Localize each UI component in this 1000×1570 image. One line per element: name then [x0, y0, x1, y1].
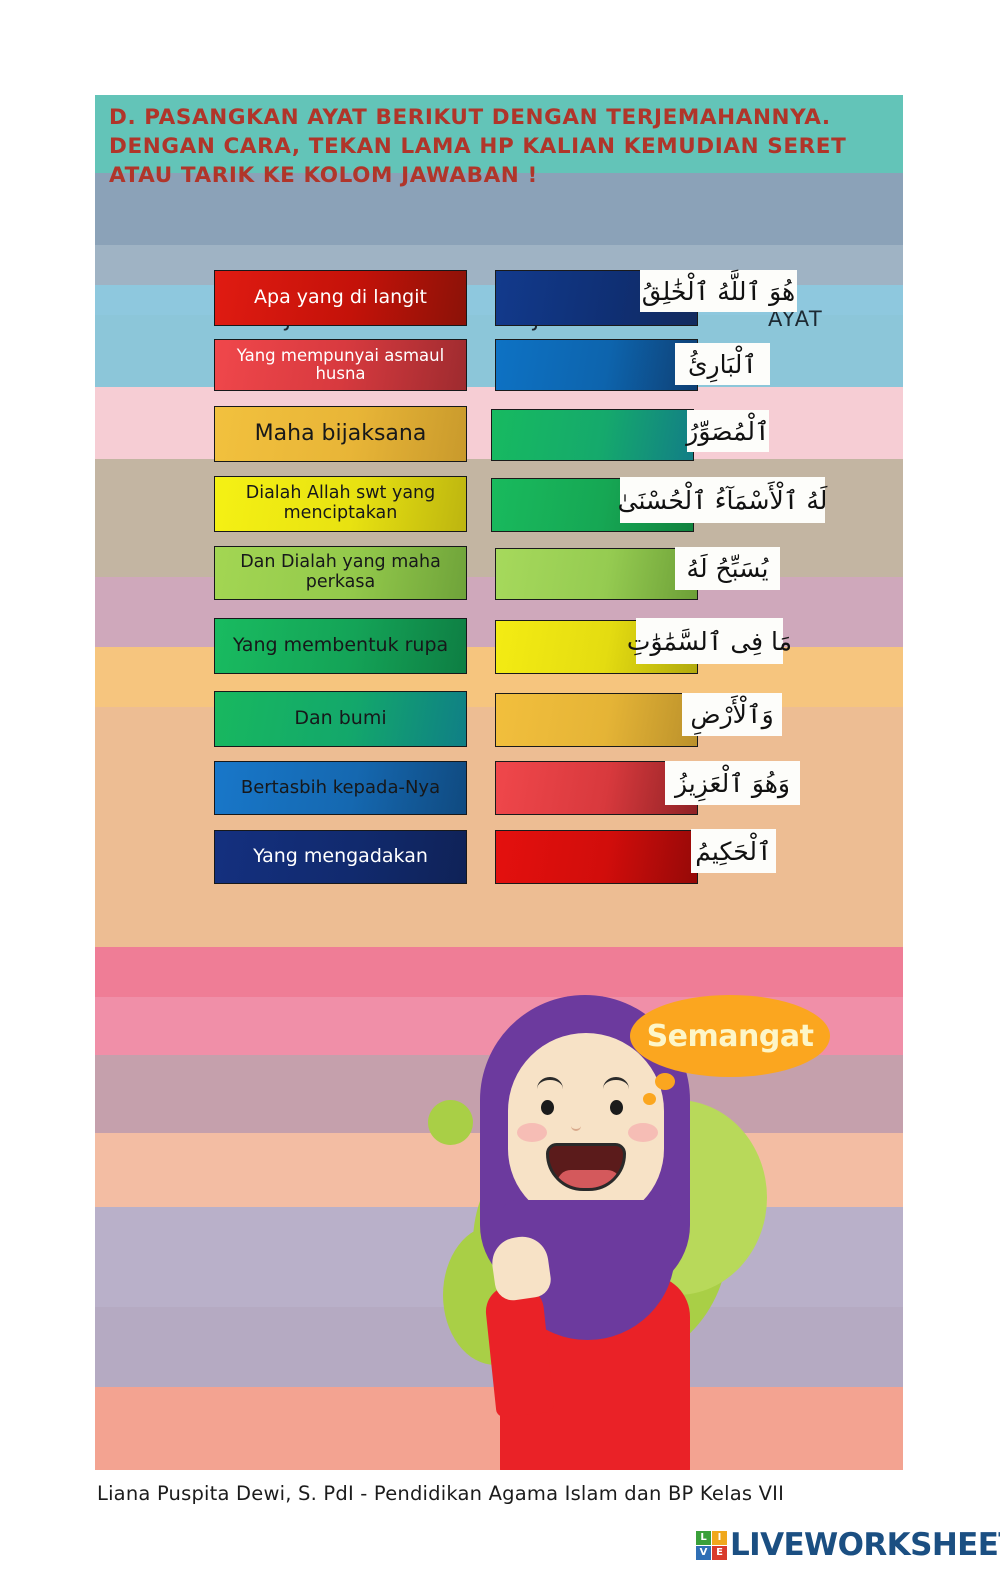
speech-bubble-tail: [655, 1073, 675, 1090]
logo-wordmark: LIVEWORKSHEETS: [730, 1527, 1000, 1563]
chip-label: Yang mempunyai asmaul husna: [221, 347, 460, 384]
ayat-text-box: لَهُ ٱلْأَسْمَآءُ ٱلْحُسْنَىٰ: [620, 477, 825, 523]
logo-tile-e: E: [712, 1546, 727, 1560]
draggable-translation-chip[interactable]: Dan Dialah yang maha perkasa: [214, 546, 467, 600]
ayat-text: وَهُوَ ٱلْعَزِيزُ: [675, 769, 790, 798]
draggable-translation-chip[interactable]: Apa yang di langit: [214, 270, 467, 326]
ayat-text: ٱلْحَكِيمُ: [695, 837, 771, 866]
ayat-text-box: ٱلْحَكِيمُ: [691, 829, 776, 873]
ayat-text-box: مَا فِى ٱلسَّمَٰوَٰتِ: [636, 618, 783, 664]
answer-drop-zone[interactable]: [491, 409, 694, 461]
draggable-translation-chip[interactable]: Dan bumi: [214, 691, 467, 747]
ayat-text: يُسَبِّحُ لَهُ: [687, 554, 769, 583]
ayat-text-box: وَٱلْأَرْضِ: [682, 693, 782, 736]
chip-label: Dialah Allah swt yang menciptakan: [221, 484, 460, 523]
ayat-text: ٱلْمُصَوِّرُ: [686, 417, 769, 446]
cheek-left: [517, 1123, 547, 1142]
speech-bubble: Semangat: [630, 995, 830, 1077]
logo-tile-l: L: [696, 1531, 711, 1545]
worksheet-page: D. PASANGKAN AYAT BERIKUT DENGAN TERJEMA…: [0, 0, 1000, 1570]
chip-label: Bertasbih kepada-Nya: [241, 778, 440, 798]
draggable-translation-chip[interactable]: Bertasbih kepada-Nya: [214, 761, 467, 815]
speech-bubble-tail-small: [643, 1093, 656, 1105]
ayat-text: وَٱلْأَرْضِ: [690, 700, 773, 729]
chip-label: Apa yang di langit: [254, 287, 427, 308]
chip-label: Maha bijaksana: [255, 422, 427, 447]
ayat-text-box: يُسَبِّحُ لَهُ: [675, 547, 780, 590]
cheek-right: [628, 1123, 658, 1142]
instruction-heading: D. PASANGKAN AYAT BERIKUT DENGAN TERJEMA…: [109, 103, 889, 190]
chip-label: Yang membentuk rupa: [233, 635, 448, 656]
eye-left: [541, 1100, 554, 1115]
logo-tile-i: I: [712, 1531, 727, 1545]
ayat-text-box: ٱلْبَارِئُ: [675, 343, 770, 385]
student-illustration: Semangat: [325, 975, 885, 1470]
liveworksheets-logo: L I V E LIVEWORKSHEETS: [696, 1527, 1000, 1563]
footer-credit: Liana Puspita Dewi, S. PdI - Pendidikan …: [97, 1482, 784, 1505]
logo-tiles: L I V E: [696, 1531, 727, 1560]
chip-label: Dan Dialah yang maha perkasa: [221, 553, 460, 592]
draggable-translation-chip[interactable]: Dialah Allah swt yang menciptakan: [214, 476, 467, 532]
chip-label: Yang mengadakan: [253, 846, 428, 867]
tongue: [557, 1170, 621, 1188]
ayat-text: ٱلْبَارِئُ: [688, 350, 757, 379]
ayat-text: لَهُ ٱلْأَسْمَآءُ ٱلْحُسْنَىٰ: [618, 486, 828, 515]
answer-drop-zone[interactable]: [495, 548, 698, 600]
speech-bubble-text: Semangat: [647, 1019, 814, 1054]
ayat-text-box: هُوَ ٱللَّهُ ٱلْخَٰلِقُ: [640, 270, 797, 312]
ayat-text-box: وَهُوَ ٱلْعَزِيزُ: [665, 761, 800, 805]
draggable-translation-chip[interactable]: Yang mengadakan: [214, 830, 467, 884]
ayat-text-box: ٱلْمُصَوِّرُ: [687, 410, 769, 452]
draggable-translation-chip[interactable]: Maha bijaksana: [214, 406, 467, 462]
eye-right: [610, 1100, 623, 1115]
ayat-text: هُوَ ٱللَّهُ ٱلْخَٰلِقُ: [642, 277, 795, 306]
heading-line-3: ATAU TARIK KE KOLOM JAWABAN !: [109, 161, 889, 190]
chip-label: Dan bumi: [294, 708, 386, 729]
draggable-translation-chip[interactable]: Yang membentuk rupa: [214, 618, 467, 674]
answer-drop-zone[interactable]: [495, 830, 698, 884]
decorative-circle: [428, 1100, 473, 1145]
answer-drop-zone[interactable]: [495, 693, 698, 747]
nose: [571, 1121, 581, 1131]
logo-tile-v: V: [696, 1546, 711, 1560]
draggable-translation-chip[interactable]: Yang mempunyai asmaul husna: [214, 339, 467, 391]
answer-drop-zone[interactable]: [495, 339, 698, 391]
heading-line-1: D. PASANGKAN AYAT BERIKUT DENGAN TERJEMA…: [109, 103, 889, 132]
mouth: [546, 1143, 626, 1191]
ayat-text: مَا فِى ٱلسَّمَٰوَٰتِ: [627, 627, 792, 656]
worksheet-panel: D. PASANGKAN AYAT BERIKUT DENGAN TERJEMA…: [95, 95, 903, 1470]
heading-line-2: DENGAN CARA, TEKAN LAMA HP KALIAN KEMUDI…: [109, 132, 889, 161]
